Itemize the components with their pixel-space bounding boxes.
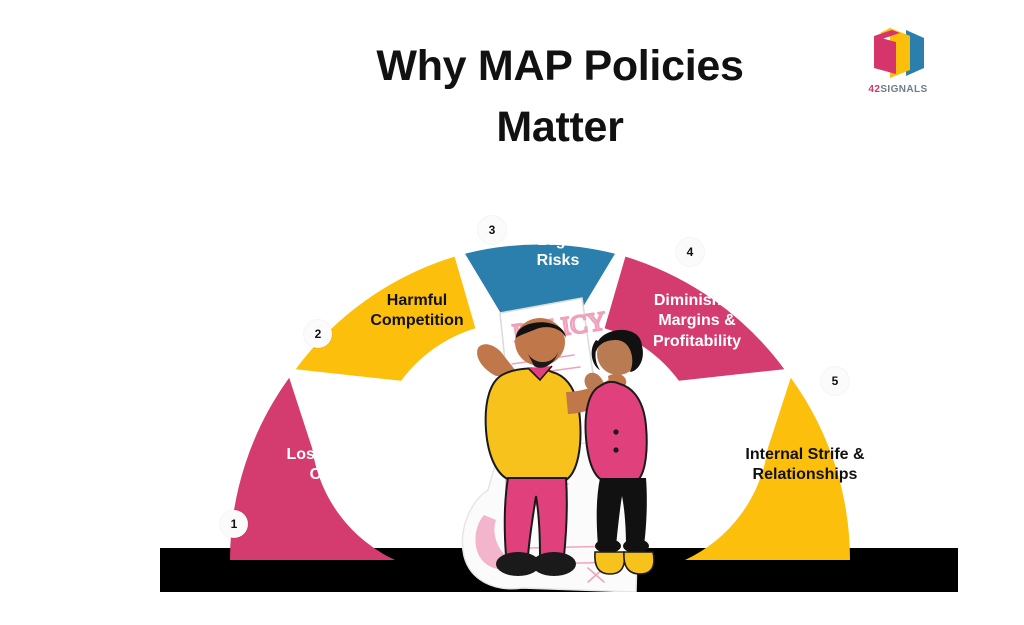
arc-segment-1-badge[interactable]: 1 bbox=[220, 510, 248, 538]
page-title-line-1: Why MAP Policies bbox=[376, 42, 743, 90]
arc-segment-2-badge[interactable]: 2 bbox=[304, 320, 332, 348]
arc-segment-5-badge[interactable]: 5 bbox=[821, 367, 849, 395]
logo-wordmark-prefix: 42 bbox=[868, 84, 880, 95]
arc-segment-3-badge[interactable]: 3 bbox=[478, 216, 506, 244]
logo-wordmark-suffix: SIGNALS bbox=[880, 84, 927, 95]
page-title: Why MAP Policies Matter bbox=[300, 36, 820, 158]
arc-segment-1[interactable] bbox=[230, 378, 395, 560]
page-title-line-2: Matter bbox=[496, 103, 623, 151]
arc-segment-4-badge[interactable]: 4 bbox=[676, 238, 704, 266]
arc-segment-5[interactable] bbox=[685, 378, 850, 560]
brand-logo[interactable]: 42SIGNALS bbox=[858, 24, 938, 104]
center-illustration: POLICY bbox=[440, 280, 680, 592]
logo-cube-icon bbox=[866, 24, 930, 84]
infographic-canvas: Why MAP Policies Matter 42SIGNALS bbox=[0, 0, 1024, 625]
logo-wordmark: 42SIGNALS bbox=[858, 84, 938, 95]
policy-document-illustration: POLICY bbox=[440, 280, 680, 592]
